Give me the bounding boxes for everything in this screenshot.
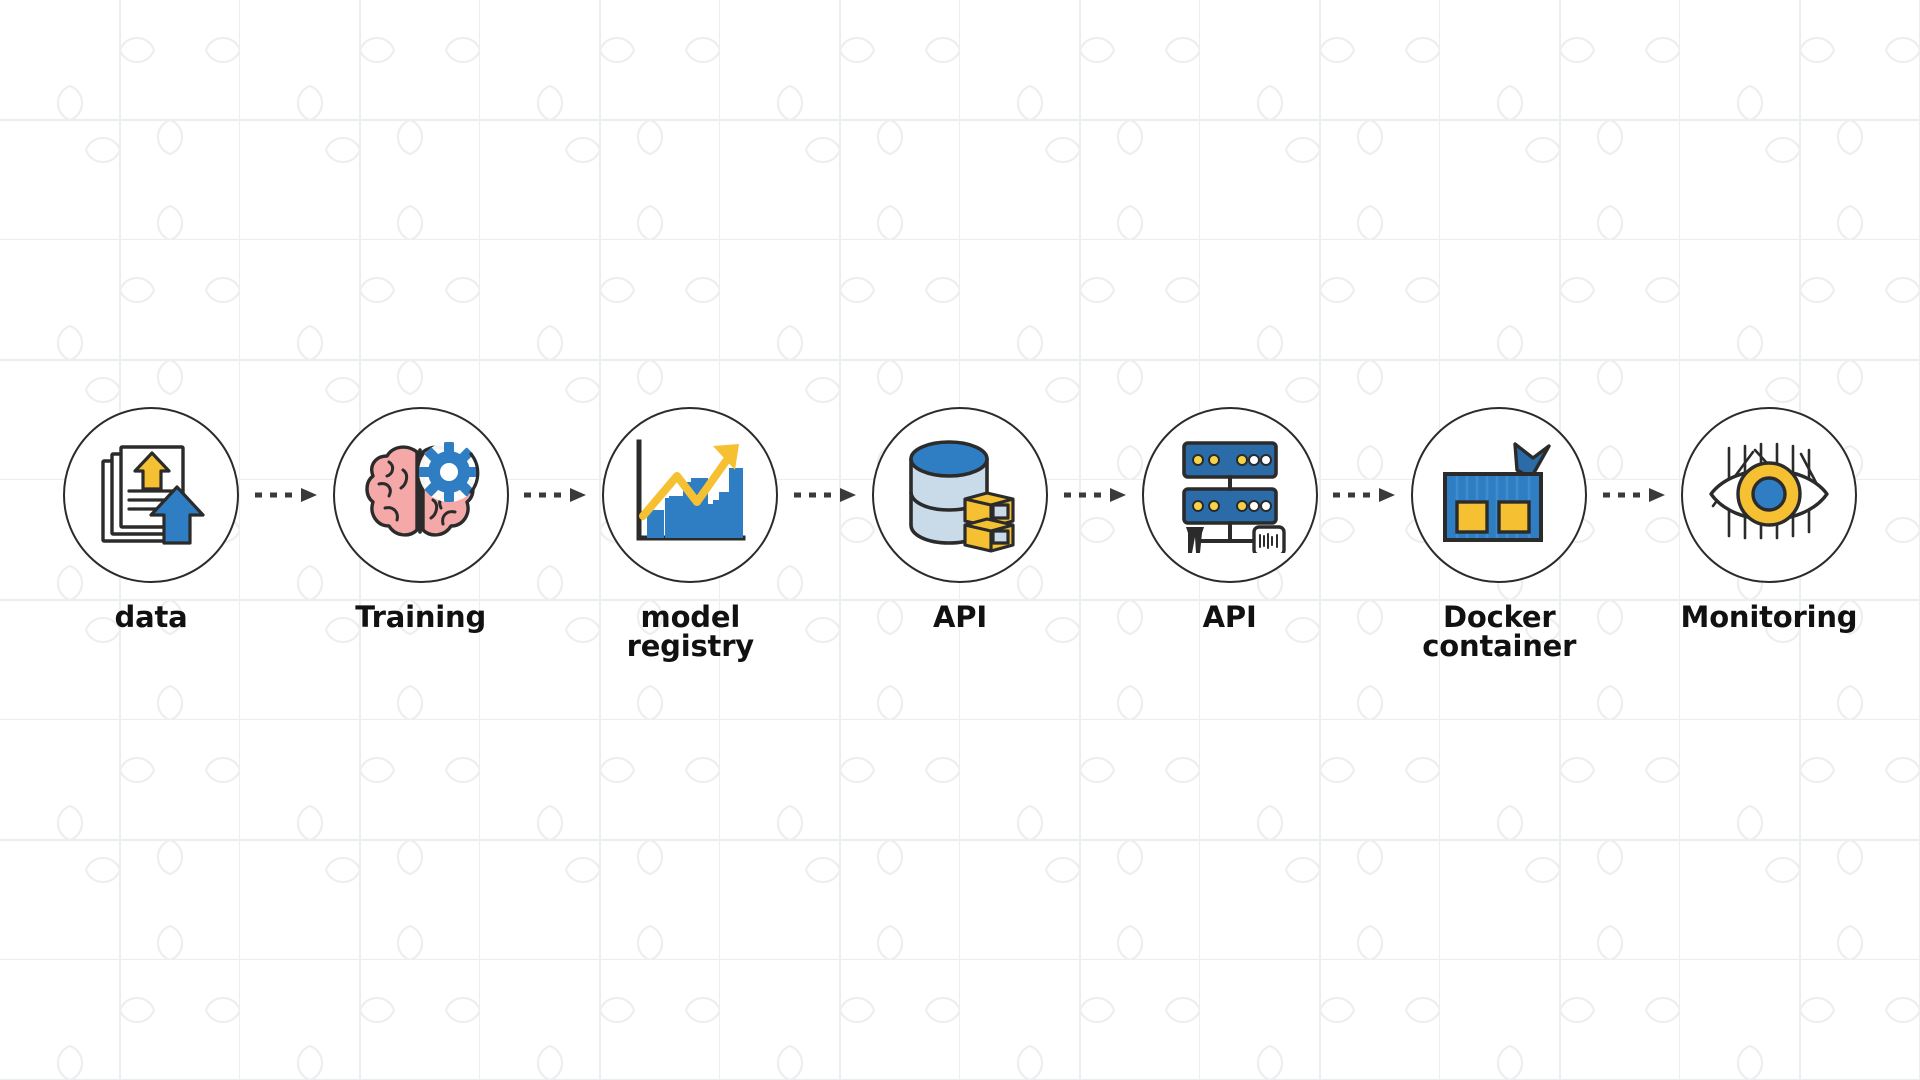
pipeline-step-api-server[interactable]: API xyxy=(1139,407,1321,632)
dashed-arrow-icon xyxy=(522,485,588,505)
dashed-arrow-icon xyxy=(1062,485,1128,505)
bar-chart-trend-icon xyxy=(629,438,751,552)
step-circle-docker-container[interactable] xyxy=(1411,407,1587,583)
pipeline-step-monitoring[interactable]: Monitoring xyxy=(1678,407,1860,632)
brain-gear-icon xyxy=(359,436,483,554)
docker-whale-container-icon xyxy=(1437,440,1561,550)
step-label-api-server: API xyxy=(1203,603,1257,632)
server-network-icon xyxy=(1172,437,1288,553)
documents-upload-icon xyxy=(91,435,211,555)
dashed-arrow-icon xyxy=(1331,485,1397,505)
step-circle-api-server[interactable] xyxy=(1142,407,1318,583)
dashed-arrow-icon xyxy=(792,485,858,505)
dashed-arrow-icon xyxy=(1601,485,1667,505)
dashed-arrow-icon xyxy=(253,485,319,505)
step-circle-data[interactable] xyxy=(63,407,239,583)
pipeline-step-api-database[interactable]: API xyxy=(869,407,1051,632)
pipeline-step-data[interactable]: data xyxy=(60,407,242,632)
pipeline-step-model-registry[interactable]: model registry xyxy=(599,407,781,661)
pipeline-step-training[interactable]: Training xyxy=(330,407,512,632)
step-circle-monitoring[interactable] xyxy=(1681,407,1857,583)
step-label-training: Training xyxy=(355,603,486,632)
step-label-model-registry: model registry xyxy=(627,603,754,661)
connector-api-db-to-api-server xyxy=(1059,407,1131,583)
connector-registry-to-api-db xyxy=(789,407,861,583)
connector-training-to-registry xyxy=(519,407,591,583)
connector-api-server-to-docker xyxy=(1328,407,1400,583)
eye-monitoring-icon xyxy=(1705,440,1833,550)
step-circle-model-registry[interactable] xyxy=(602,407,778,583)
connector-data-to-training xyxy=(250,407,322,583)
step-label-api-database: API xyxy=(933,603,987,632)
step-circle-training[interactable] xyxy=(333,407,509,583)
pipeline-diagram: data xyxy=(0,0,1920,1080)
step-label-data: data xyxy=(115,603,188,632)
pipeline-flow-row: data xyxy=(60,407,1860,661)
step-circle-api-database[interactable] xyxy=(872,407,1048,583)
step-label-docker-container: Docker container xyxy=(1422,603,1576,661)
step-label-monitoring: Monitoring xyxy=(1681,603,1858,632)
pipeline-step-docker-container[interactable]: Docker container xyxy=(1408,407,1590,661)
connector-docker-to-monitoring xyxy=(1598,407,1670,583)
database-packages-icon xyxy=(901,437,1019,553)
